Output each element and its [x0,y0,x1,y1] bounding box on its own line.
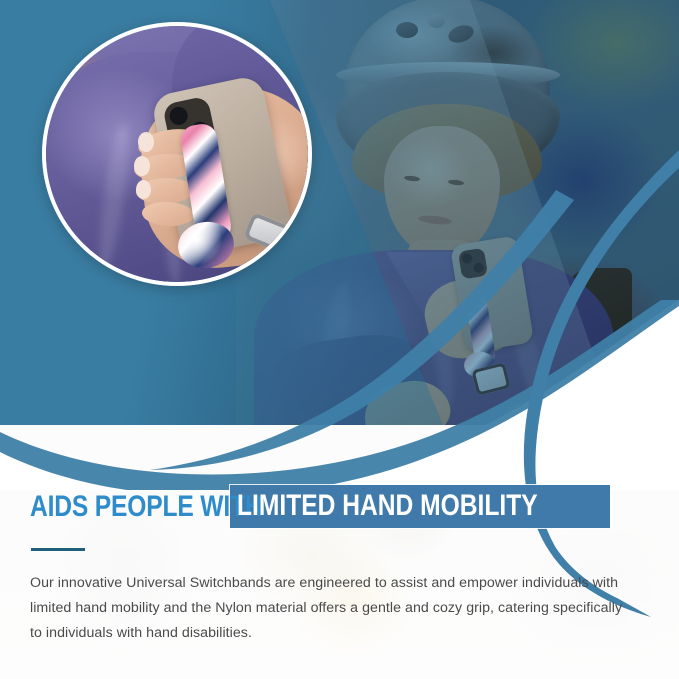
inset-fingernail [136,180,151,199]
hero-image-area [0,0,679,430]
circular-inset-photo [42,22,312,286]
accent-rule [31,548,85,551]
headline-plain-text: AIDS PEOPLE WITH [30,492,262,522]
description-text: Our innovative Universal Switchbands are… [30,571,634,646]
inset-fingernail [134,156,150,176]
headline-highlight-text: LIMITED HAND MOBILITY [237,491,538,521]
headline-highlight-box: LIMITED HAND MOBILITY [230,485,611,528]
banner-root: AIDS PEOPLE WITH LIMITED HAND MOBILITY O… [0,0,679,679]
description-paragraph: Our innovative Universal Switchbands are… [30,571,634,646]
inset-fingernail [138,132,154,152]
headline: AIDS PEOPLE WITH LIMITED HAND MOBILITY [30,485,610,528]
